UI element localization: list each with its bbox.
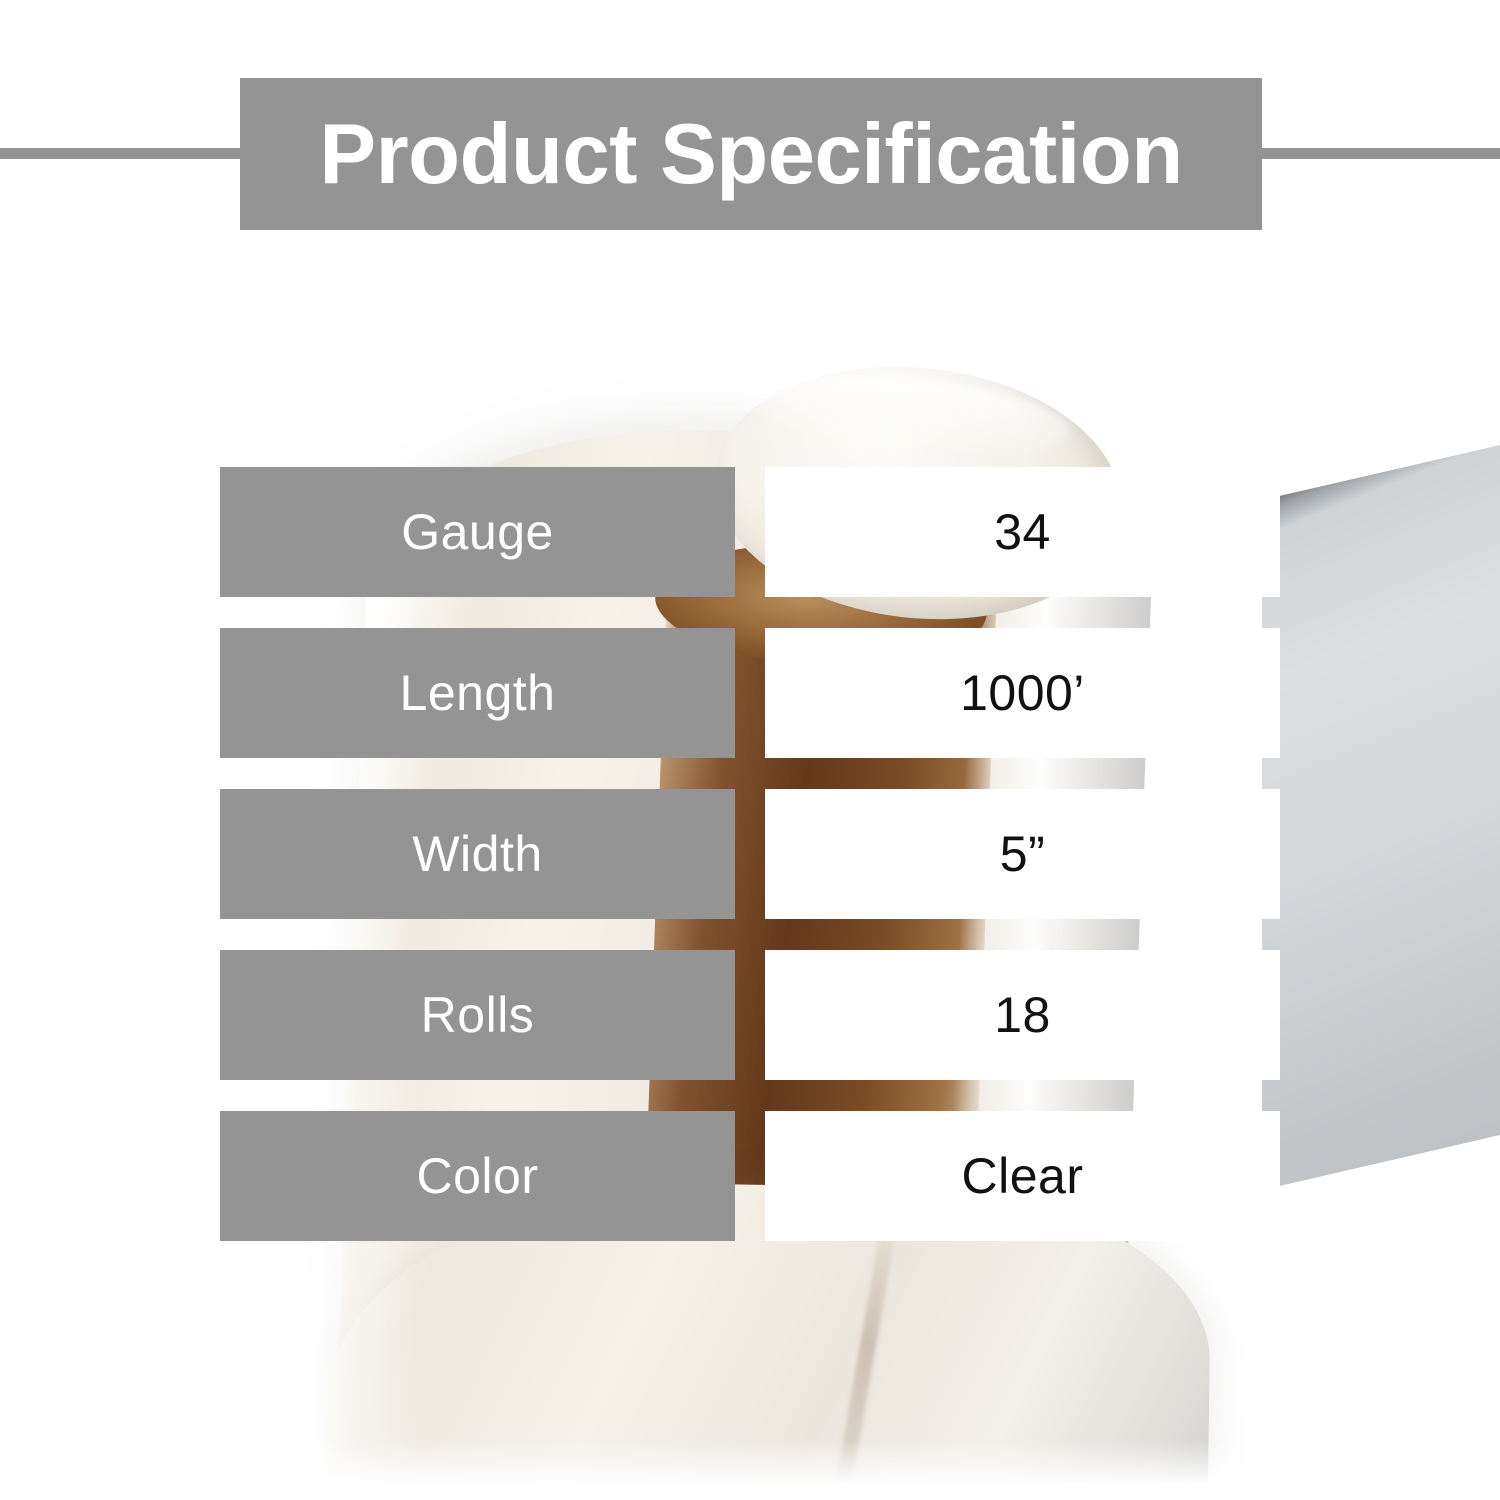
spec-value-cell-color: Clear bbox=[765, 1111, 1280, 1241]
spec-label-text: Rolls bbox=[421, 990, 535, 1040]
spec-label-text: Length bbox=[400, 668, 556, 718]
spec-value-text: 18 bbox=[994, 990, 1051, 1040]
spec-label-text: Width bbox=[412, 829, 542, 879]
spec-label-cell-width: Width bbox=[220, 789, 735, 919]
spec-label-cell-color: Color bbox=[220, 1111, 735, 1241]
spec-value-cell-rolls: 18 bbox=[765, 950, 1280, 1080]
spec-value-cell-width: 5” bbox=[765, 789, 1280, 919]
spec-value-text: Clear bbox=[962, 1151, 1084, 1201]
spec-value-cell-gauge: 34 bbox=[765, 467, 1280, 597]
spec-label-cell-length: Length bbox=[220, 628, 735, 758]
spec-value-text: 5” bbox=[1000, 829, 1045, 879]
header-banner: Product Specification bbox=[240, 78, 1262, 230]
infographic-canvas: Product Specification Gauge34Length1000’… bbox=[0, 0, 1500, 1500]
page-title: Product Specification bbox=[319, 112, 1182, 197]
spec-label-cell-gauge: Gauge bbox=[220, 467, 735, 597]
spec-value-text: 1000’ bbox=[960, 668, 1085, 718]
spec-label-text: Gauge bbox=[401, 507, 554, 557]
spec-label-text: Color bbox=[417, 1151, 539, 1201]
spec-value-text: 34 bbox=[994, 507, 1051, 557]
spec-value-cell-length: 1000’ bbox=[765, 628, 1280, 758]
spec-label-cell-rolls: Rolls bbox=[220, 950, 735, 1080]
